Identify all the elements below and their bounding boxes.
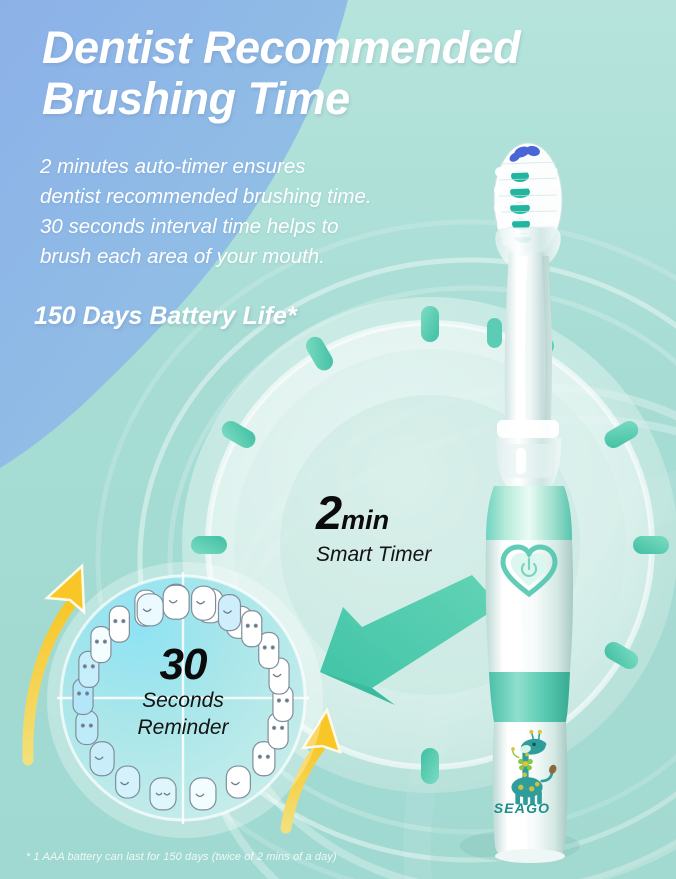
footnote-disclaimer: * 1 AAA battery can last for 150 days (t… — [26, 851, 337, 863]
subtitle-line-2: dentist recommended brushing time. — [40, 182, 470, 212]
subtitle-line-4: brush each area of your mouth. — [40, 242, 470, 272]
subtitle-line-3: 30 seconds interval time helps to — [40, 212, 470, 242]
interval-reminder-callout: 30 Seconds Reminder — [103, 643, 263, 741]
smart-timer-value-row: 2min — [316, 485, 476, 540]
smart-timer-number: 2 — [316, 486, 341, 539]
subtitle-paragraph: 2 minutes auto-timer ensures dentist rec… — [40, 152, 470, 272]
battery-life-claim: 150 Days Battery Life* — [34, 302, 297, 331]
title-line-2: Brushing Time — [42, 73, 642, 124]
interval-number: 30 — [103, 643, 263, 687]
neck-nub — [487, 318, 502, 348]
brand-wordmark: SEAGO — [487, 800, 557, 816]
title-line-1: Dentist Recommended — [42, 22, 520, 73]
smart-timer-unit: min — [341, 505, 389, 535]
handle-mint-ring — [489, 672, 570, 722]
toothbrush-product-image — [0, 0, 676, 879]
smart-timer-label: Smart Timer — [316, 543, 476, 567]
interval-label-reminder: Reminder — [103, 714, 263, 741]
infographic-canvas: Dentist Recommended Brushing Time 2 minu… — [0, 0, 676, 879]
page-title: Dentist Recommended Brushing Time — [42, 22, 642, 124]
smart-timer-callout: 2min Smart Timer — [316, 485, 476, 567]
subtitle-line-1: 2 minutes auto-timer ensures — [40, 152, 470, 182]
interval-label-seconds: Seconds — [103, 687, 263, 714]
